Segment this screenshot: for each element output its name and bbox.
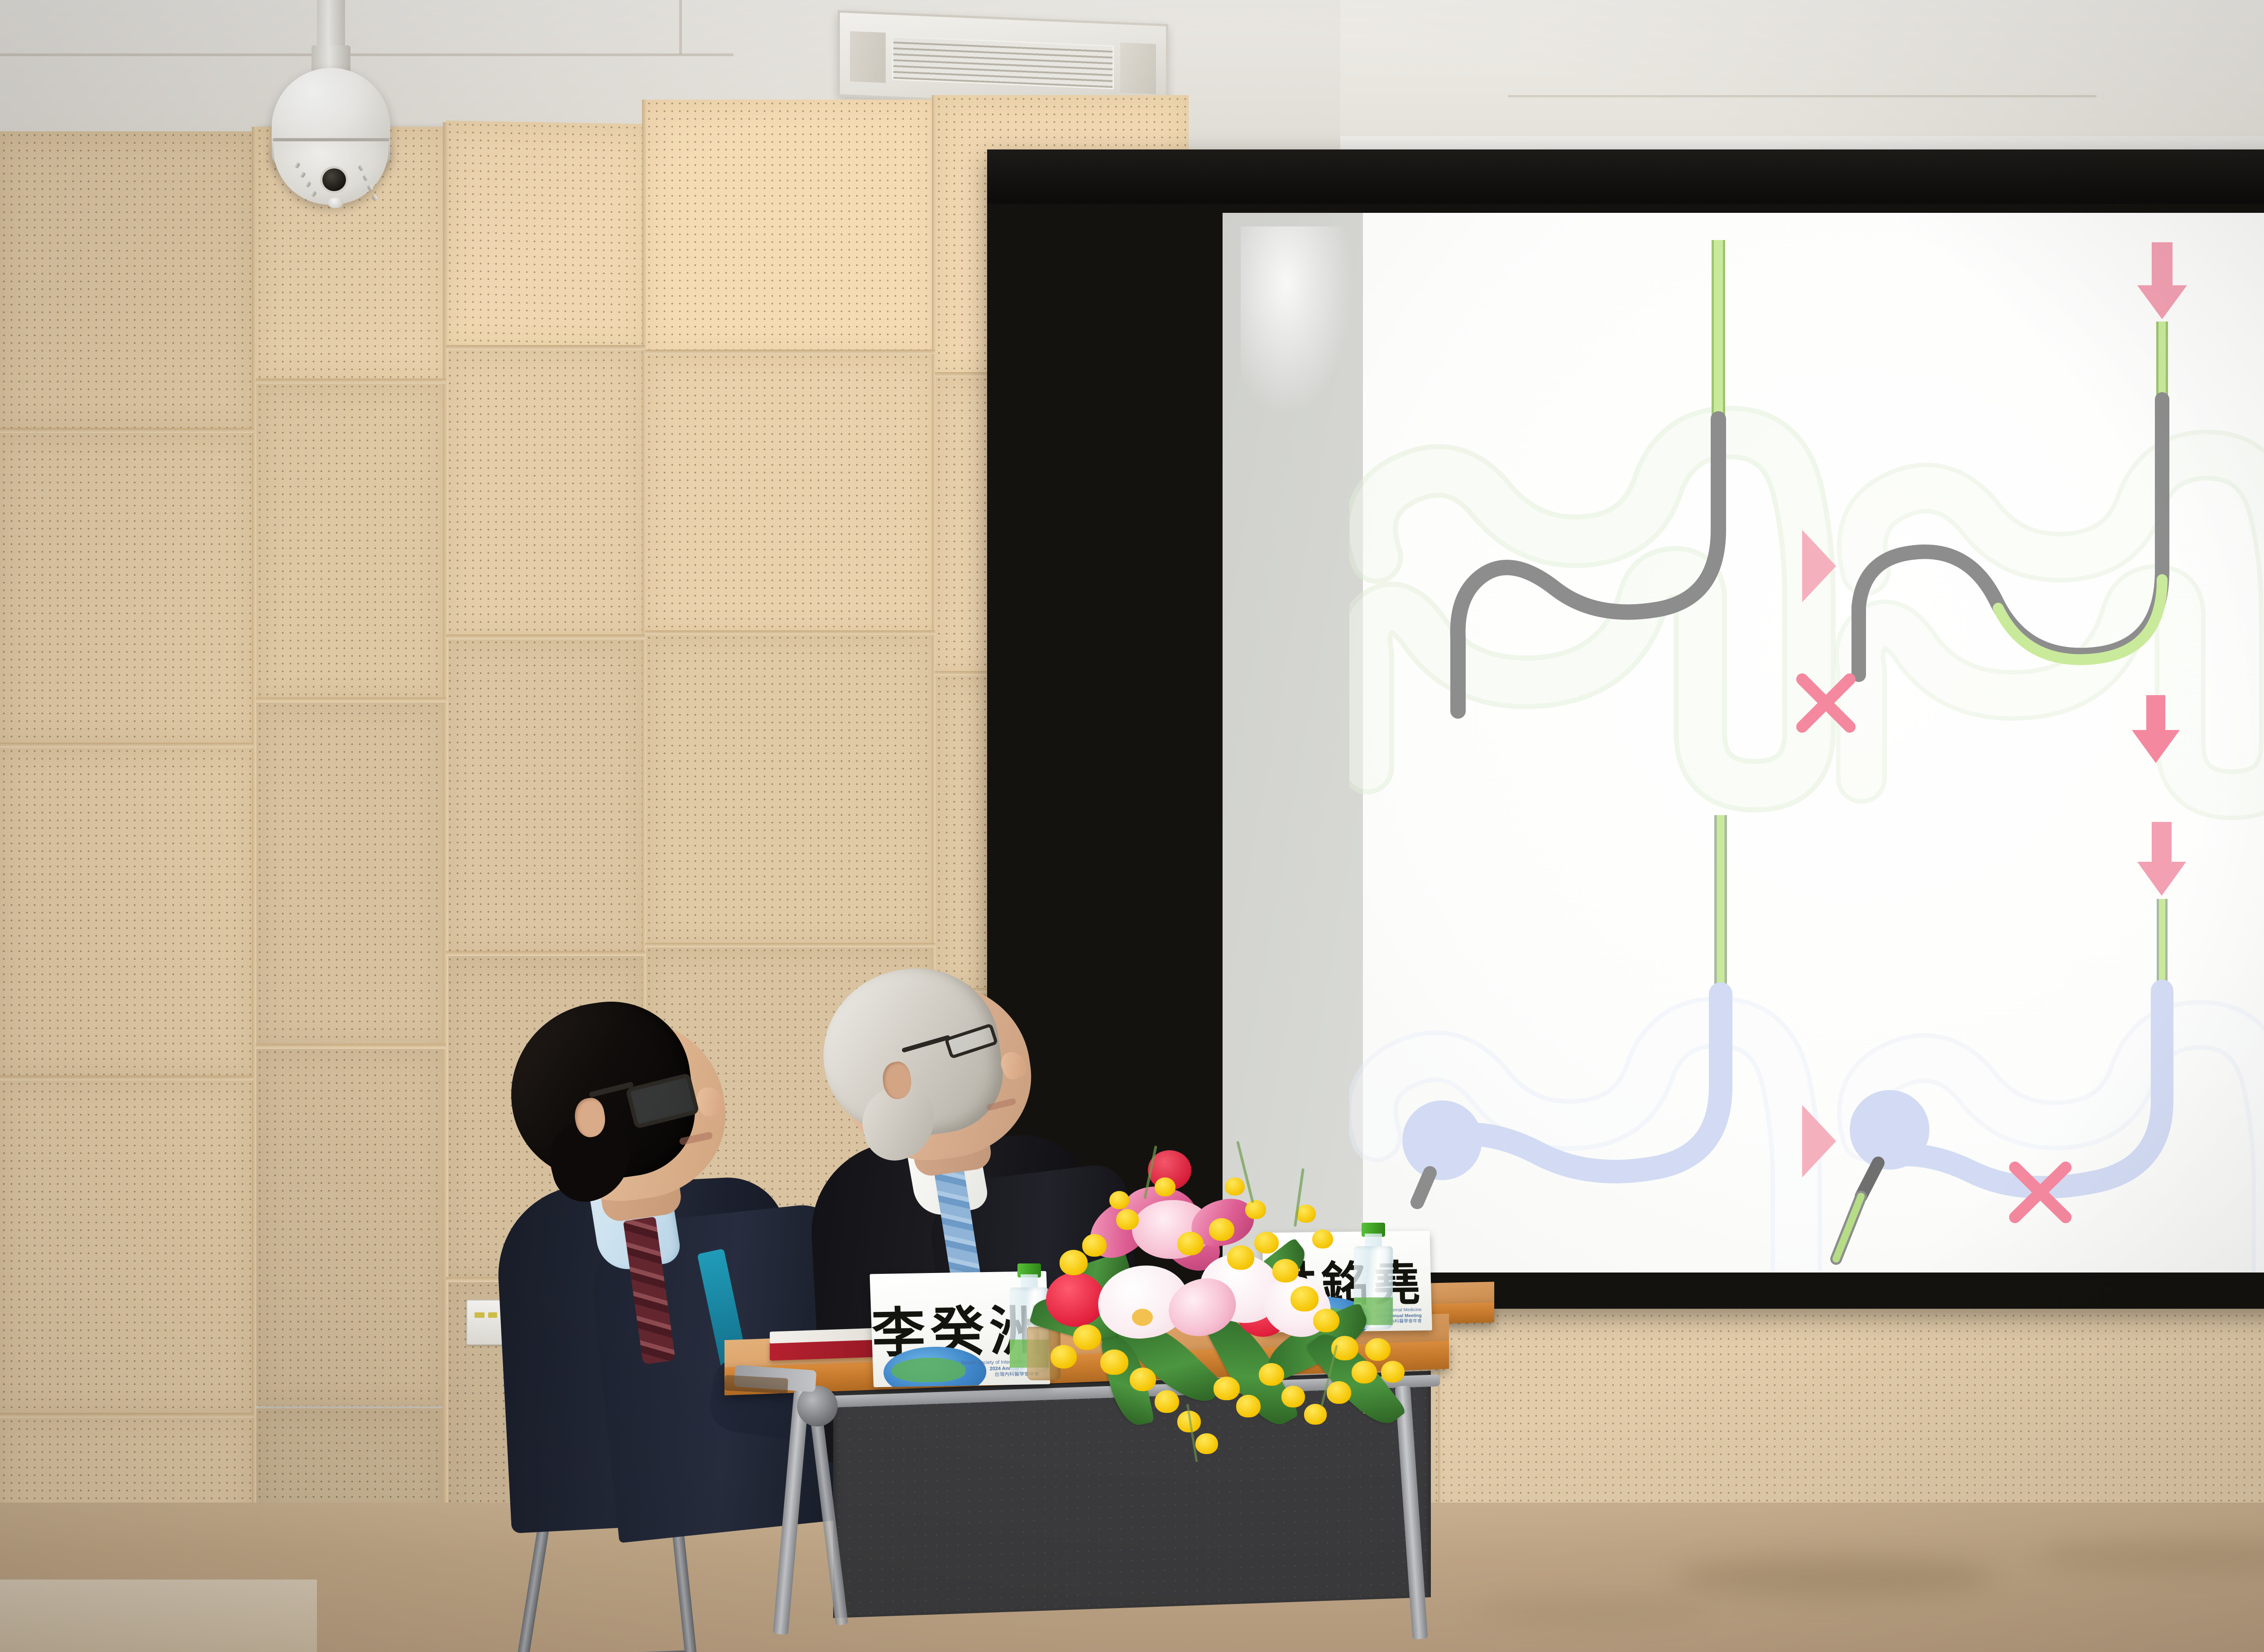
push-down-arrow-icon: [2137, 822, 2186, 896]
camera-lens-icon: [322, 168, 346, 191]
screen-glare: [1241, 226, 1354, 417]
acoustic-wall-panel: [1440, 1304, 2264, 1513]
orchid-lip: [1132, 1309, 1153, 1326]
ceiling-soffit: [1340, 0, 2264, 154]
balloon-icon: [1850, 1090, 1929, 1170]
floor-front-step: [0, 1580, 317, 1652]
ceiling-seam: [0, 53, 734, 56]
floral-arrangement: [1019, 1150, 1408, 1494]
balloon-icon: [1402, 1100, 1482, 1180]
slide-svg: [1349, 213, 2264, 1273]
wall-power-outlet: [466, 1300, 504, 1345]
table-caster-wheel: [797, 1386, 838, 1426]
photograph-scene: 李癸洲 Taiwan Society of Internal Medicine …: [0, 0, 2264, 1652]
slide-endoscopy-diagram: [1349, 213, 2264, 1273]
ceiling-seam: [679, 0, 682, 54]
projection-screen-roller: [987, 149, 2264, 204]
top-panel-2-bowel: [1860, 455, 2264, 795]
push-down-arrow-icon: [2137, 242, 2187, 319]
camera-ir-illuminator: [328, 197, 343, 208]
ceiling-seam: [1508, 95, 2096, 97]
table-bracket: [724, 1375, 788, 1393]
